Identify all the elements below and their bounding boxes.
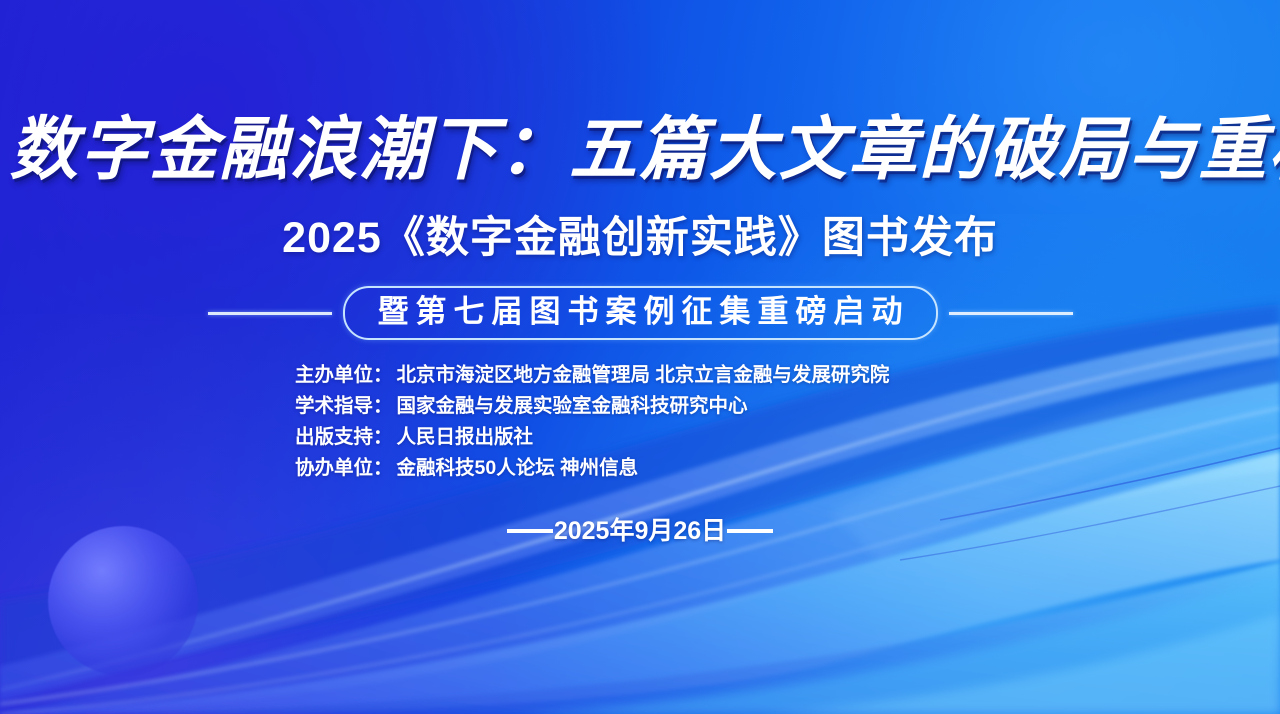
credit-value: 北京市海淀区地方金融管理局 北京立言金融与发展研究院 [397,364,890,386]
credit-label: 协办单位： [295,457,393,479]
banner-dash-right [949,312,1073,315]
date-dash-right [727,529,773,533]
sub-title: 2025《数字金融创新实践》图书发布 [0,211,1280,265]
banner-dash-left [208,312,332,315]
credit-line: 学术指导：国家金融与发展实验室金融科技研究中心 [295,391,985,422]
credit-label: 主办单位： [295,364,393,386]
credit-value: 人民日报出版社 [397,426,534,448]
credit-value: 金融科技50人论坛 神州信息 [397,457,639,479]
date-row: 2025年9月26日 [0,514,1280,548]
page-title: 数字金融浪潮下：五篇大文章的破局与重构 [10,108,1271,192]
banner-row: 暨第七届图书案例征集重磅启动 [0,287,1280,339]
credit-line: 出版支持：人民日报出版社 [295,422,985,453]
poster-content: 数字金融浪潮下：五篇大文章的破局与重构 2025《数字金融创新实践》图书发布 暨… [0,0,1280,714]
event-date: 2025年9月26日 [553,514,727,548]
credit-label: 出版支持： [295,426,393,448]
banner-pill-label: 暨第七届图书案例征集重磅启动 [343,286,938,340]
date-dash-left [507,529,553,533]
credit-line: 主办单位：北京市海淀区地方金融管理局 北京立言金融与发展研究院 [295,360,985,391]
credit-value: 国家金融与发展实验室金融科技研究中心 [397,395,748,417]
credit-label: 学术指导： [295,395,393,417]
poster-canvas: 数字金融浪潮下：五篇大文章的破局与重构 2025《数字金融创新实践》图书发布 暨… [0,0,1280,714]
credit-line: 协办单位：金融科技50人论坛 神州信息 [295,453,985,484]
credits-block: 主办单位：北京市海淀区地方金融管理局 北京立言金融与发展研究院 学术指导：国家金… [0,360,1280,484]
